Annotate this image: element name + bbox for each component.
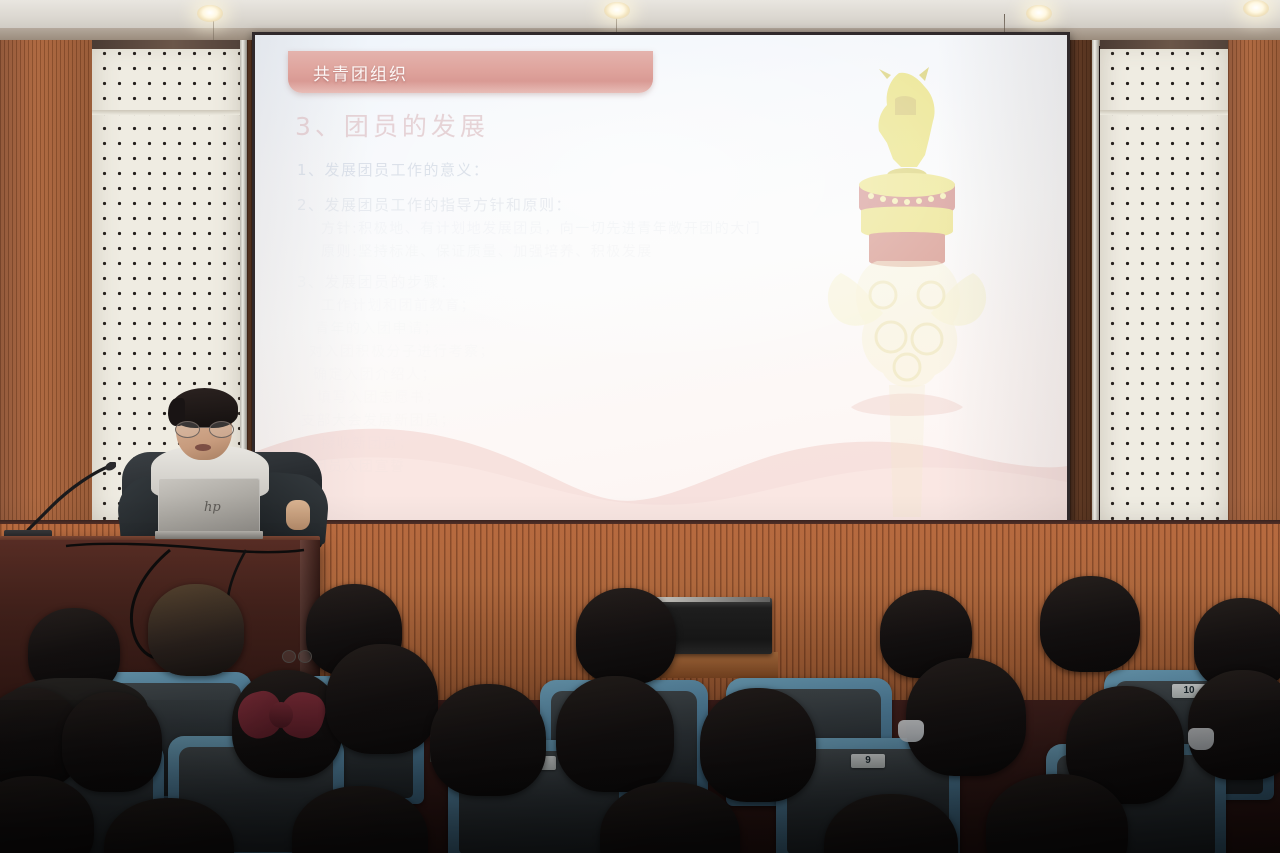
face-mask	[1188, 728, 1214, 750]
slide-bullet: 新团员入团宣誓	[297, 456, 1043, 476]
panel-seam	[92, 110, 240, 115]
left-wood-wall	[0, 40, 92, 530]
slide-title-text: 共青团组织	[313, 60, 408, 85]
ceiling-downlight	[604, 2, 630, 19]
audience-head	[906, 658, 1026, 776]
slide-bullet: 支部大会发展新团员；	[301, 410, 1043, 430]
audience-head	[1040, 576, 1140, 672]
slide-bullet: 接收新团员；	[321, 433, 1043, 453]
slide-title-pill: 共青团组织	[288, 51, 653, 93]
audience-area: 8 10 8 9	[0, 560, 1280, 853]
panel-top-shadow	[92, 40, 240, 49]
slide-bullet: 3、发展团员的步骤：	[297, 271, 1043, 292]
slide-heading: 3、团员的发展	[295, 107, 1043, 143]
ceiling-downlight	[197, 5, 223, 22]
slide-body: 3、团员的发展 1、发展团员工作的意义： 2、发展团员工作的指导方针和原则： 方…	[295, 107, 1043, 476]
ceiling	[0, 0, 1280, 30]
audience-head	[148, 584, 244, 676]
gooseneck-microphone	[20, 462, 116, 534]
slide-bullet: 2、发展团员工作的指导方针和原则：	[297, 194, 1043, 215]
audience-head	[62, 692, 162, 792]
hp-laptop: hp	[155, 478, 263, 540]
laptop-lid: hp	[158, 478, 260, 533]
ceiling-downlight	[1026, 5, 1052, 22]
panel-seam	[1100, 110, 1228, 115]
lecture-hall-photo: 共青团组织 3、团员的发展 1、发展团员工作的意义： 2、发展团员工作的指导方针…	[0, 0, 1280, 853]
audience-head	[326, 644, 438, 754]
slide-bullet: 方针:积极地、有计划地发展团员，向一切先进青年敞开团的大门	[321, 218, 1043, 238]
slide-bullet: 原则:坚持标准、保证质量、加强培养、积极发展	[321, 241, 1043, 261]
audience-head	[1188, 670, 1280, 780]
right-wall-return	[1070, 40, 1092, 530]
slide-bullet: 工作计划和团前教育；	[321, 295, 1043, 315]
ceiling-downlight	[1243, 0, 1269, 17]
projection-screen: 共青团组织 3、团员的发展 1、发展团员工作的意义： 2、发展团员工作的指导方针…	[255, 35, 1067, 520]
audience-head	[700, 688, 816, 802]
panel-top-shadow	[1100, 40, 1228, 49]
hair-bow	[238, 686, 324, 746]
glasses-icon	[282, 650, 312, 661]
slide-bullet: 1、发展团员工作的意义：	[297, 159, 1043, 180]
slide-bullet: 填写入团志愿书；	[317, 387, 1043, 407]
hp-logo-icon: hp	[204, 500, 221, 515]
presenter-right-hand	[286, 500, 310, 530]
audience-head	[576, 588, 676, 684]
right-wood-wall	[1228, 40, 1280, 530]
glasses-icon	[175, 421, 234, 436]
audience-head	[430, 684, 546, 796]
audience-head	[556, 676, 674, 792]
wall-metal-trim	[1092, 40, 1099, 530]
slide-bullet: 青年的入团申请；	[315, 318, 1043, 338]
slide-bullet: 确定入团介绍人；	[313, 364, 1043, 384]
face-mask	[898, 720, 924, 742]
presenter-mouth	[195, 444, 211, 451]
slide-bullet: 对入团积极分子进行考察；	[309, 341, 1043, 361]
laptop-base	[155, 531, 263, 539]
seat-number-badge: 9	[851, 754, 885, 768]
